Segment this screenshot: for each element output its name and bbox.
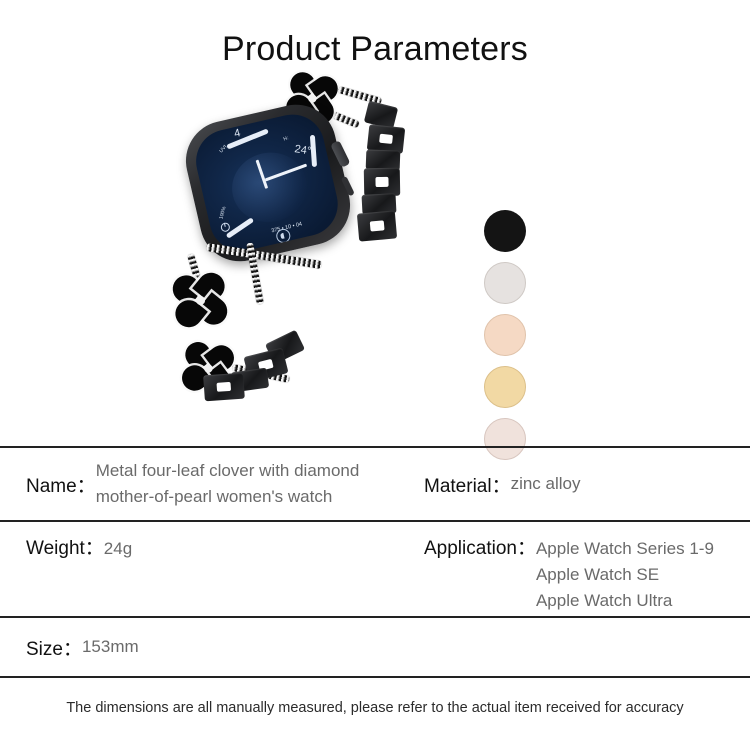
watch-screen: 4 UVI 24° H: 100% 375 • 10 • 04: [190, 108, 344, 257]
spec-table: Name： Metal four-leaf clover with diamon…: [0, 446, 750, 678]
uv-arc-icon: [226, 129, 269, 150]
spec-value-line: Metal four-leaf clover with diamond: [96, 458, 360, 484]
spec-value-material: zinc alloy: [511, 471, 581, 497]
band-clasp-bottom: [203, 373, 245, 402]
spec-label-name: Name：: [26, 471, 96, 498]
clover-center-stone: [195, 295, 205, 305]
band-link: [364, 168, 400, 197]
color-swatch-list: [484, 210, 526, 460]
clover-center-stone: [203, 363, 213, 373]
spec-cell-name: Name： Metal four-leaf clover with diamon…: [0, 448, 416, 520]
spec-value-line: Apple Watch Series 1-9: [536, 536, 714, 562]
uv-value: 4: [233, 127, 242, 140]
table-row: Size： 153mm: [0, 618, 750, 678]
table-row: Name： Metal four-leaf clover with diamon…: [0, 448, 750, 522]
clover-center-stone: [307, 93, 317, 103]
temperature-value: 24°: [294, 143, 312, 157]
spec-value-size: 153mm: [82, 634, 139, 660]
spec-cell-application: Application： Apple Watch Series 1-9 Appl…: [416, 522, 750, 616]
spec-cell-weight: Weight： 24g: [0, 522, 416, 616]
spec-label-weight: Weight：: [26, 536, 104, 562]
spec-value-weight: 24g: [104, 536, 132, 562]
band-clasp-right: [357, 210, 397, 241]
spec-label-application: Application：: [424, 536, 536, 562]
spec-label-size: Size：: [26, 634, 82, 661]
spec-value-line: Apple Watch SE: [536, 562, 714, 588]
spec-value-application: Apple Watch Series 1-9 Apple Watch SE Ap…: [536, 536, 714, 614]
color-swatch-gold[interactable]: [484, 366, 526, 408]
spec-value-line: mother-of-pearl women's watch: [96, 484, 360, 510]
spec-label-material: Material：: [424, 471, 511, 498]
spec-value-line: 153mm: [82, 634, 139, 660]
color-swatch-rose-peach[interactable]: [484, 314, 526, 356]
color-swatch-black[interactable]: [484, 210, 526, 252]
spec-value-line: zinc alloy: [511, 471, 581, 497]
product-image: 4 UVI 24° H: 100% 375 • 10 • 04: [170, 74, 430, 414]
footer-disclaimer: The dimensions are all manually measured…: [0, 700, 750, 716]
battery-label: 100%: [218, 206, 227, 220]
spec-value-name: Metal four-leaf clover with diamond moth…: [96, 458, 360, 510]
screen-glow: [225, 145, 314, 229]
spec-cell-empty: [416, 618, 750, 676]
product-hero: 4 UVI 24° H: 100% 375 • 10 • 04: [0, 66, 750, 418]
spec-cell-size: Size： 153mm: [0, 618, 416, 676]
spec-value-line: 24g: [104, 536, 132, 562]
side-button: [341, 176, 355, 197]
spec-cell-material: Material： zinc alloy: [416, 448, 750, 520]
temperature-label: H:: [283, 135, 290, 142]
color-swatch-silver-white[interactable]: [484, 262, 526, 304]
table-row: Weight： 24g Application： Apple Watch Ser…: [0, 522, 750, 618]
spec-value-line: Apple Watch Ultra: [536, 588, 714, 614]
page-title: Product Parameters: [0, 0, 750, 66]
digital-crown: [330, 140, 350, 168]
clover-charm-middle: [171, 271, 228, 328]
